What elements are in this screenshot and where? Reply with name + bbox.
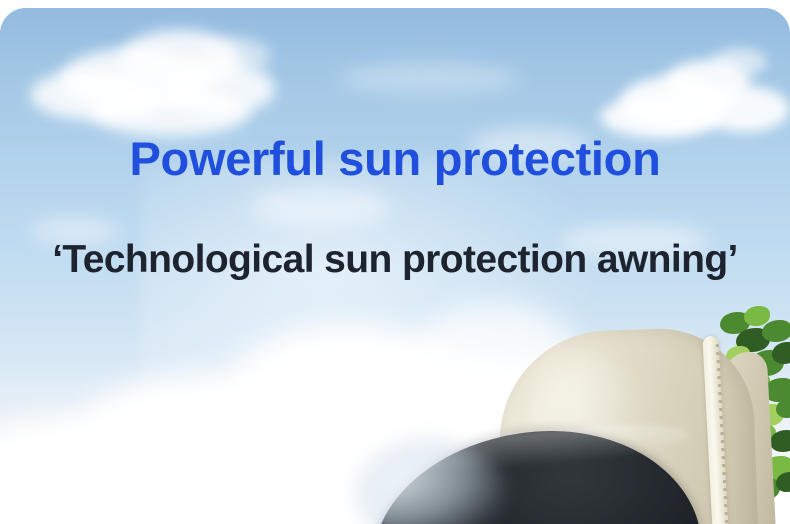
cloud: [250, 188, 390, 228]
cloud: [90, 88, 250, 136]
cloud: [340, 63, 520, 93]
banner-headline: Powerful sun protection: [0, 132, 790, 186]
cloud: [700, 86, 790, 132]
product-banner: Powerful sun protection ‘Technological s…: [0, 0, 790, 524]
banner-photo: Powerful sun protection ‘Technological s…: [0, 8, 790, 524]
cloud: [150, 409, 330, 499]
banner-subheadline: ‘Technological sun protection awning’: [0, 238, 790, 283]
cloud: [200, 38, 270, 74]
cloud: [712, 48, 767, 76]
